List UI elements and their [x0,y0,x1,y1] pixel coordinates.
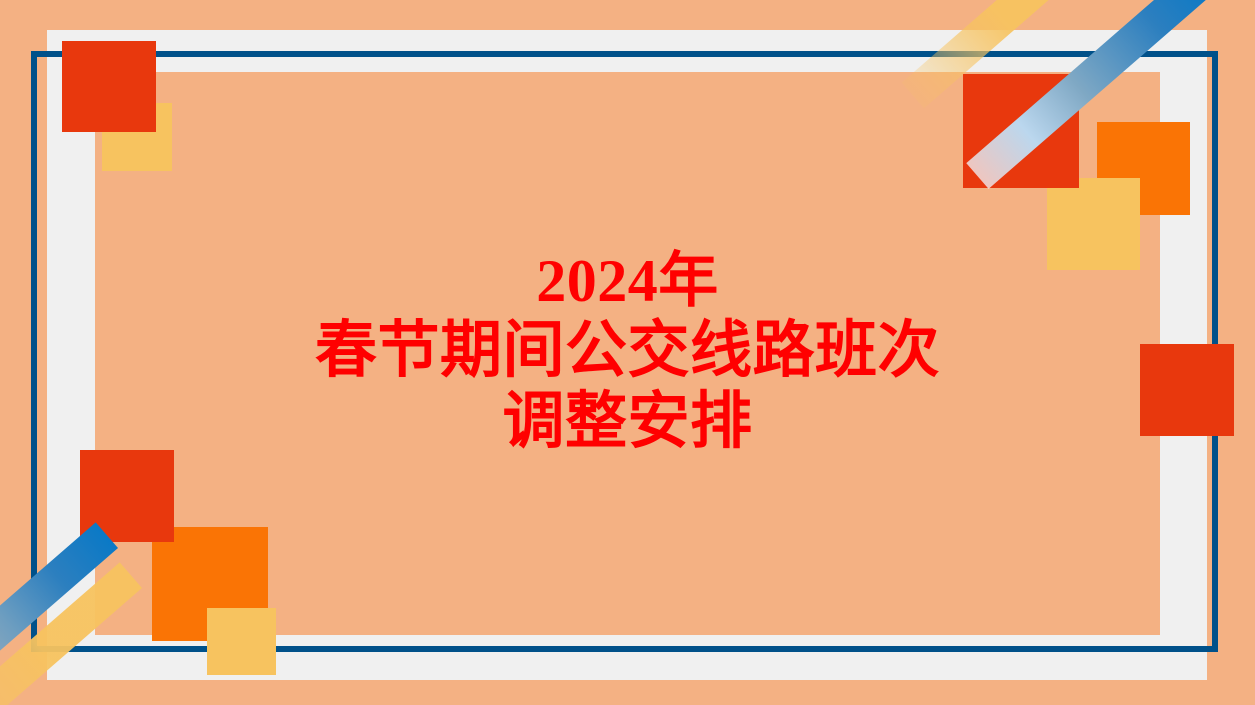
decor-square-red-bottom-right [1140,344,1234,436]
decor-square-yellow-top-right [1047,178,1140,270]
decor-square-yellow-bottom-left [207,608,276,675]
decor-square-red-top-left [62,41,156,132]
title-slide: 2024年 春节期间公交线路班次 调整安排 [0,0,1255,705]
